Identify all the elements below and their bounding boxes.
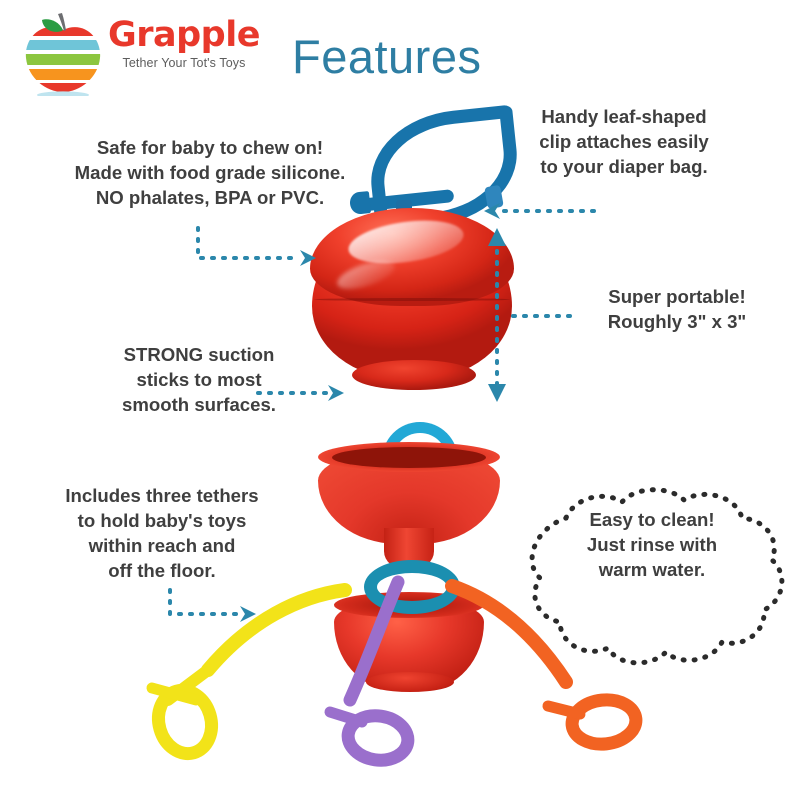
connector-chew [198,228,300,258]
connector-tethers [170,590,240,614]
callout-strong-suction: STRONG suction sticks to most smooth sur… [76,343,322,418]
features-infographic: Grapple Tether Your Tot's Toys Features [0,0,800,800]
callout-safe-to-chew: Safe for baby to chew on! Made with food… [58,136,362,211]
callout-three-tethers: Includes three tethers to hold baby's to… [26,484,298,584]
callout-leaf-clip: Handy leaf-shaped clip attaches easily t… [516,105,732,180]
dimension-arrow-up [488,228,506,246]
dimension-arrow-down [488,384,506,402]
callout-super-portable: Super portable! Roughly 3" x 3" [574,285,780,335]
callout-easy-to-clean: Easy to clean! Just rinse with warm wate… [548,508,756,583]
